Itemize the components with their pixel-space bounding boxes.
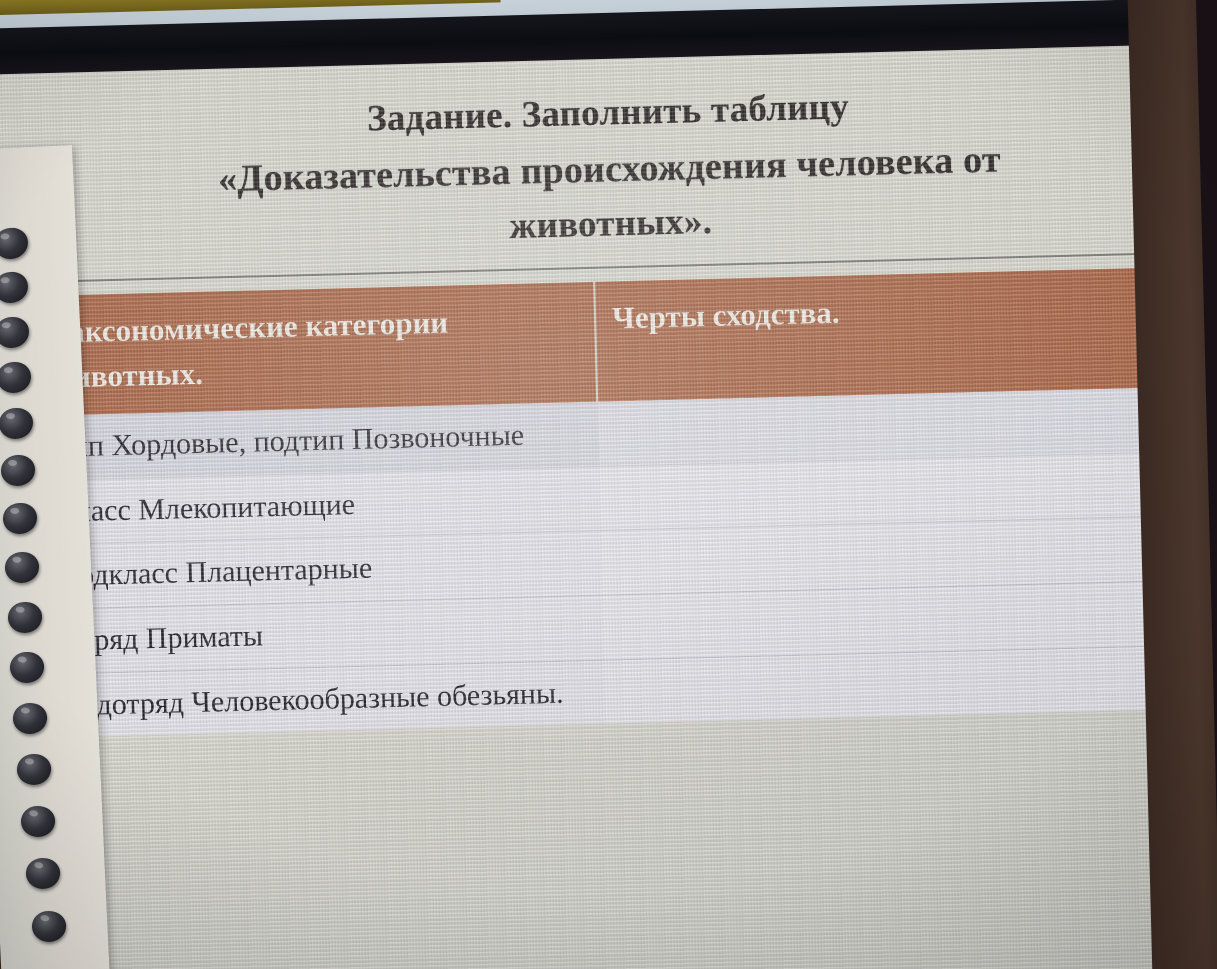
photo-of-projected-slide: Задание. Заполнить таблицу «Доказательст… [0, 0, 1217, 969]
evidence-table: Таксономические категории животных. Черт… [32, 266, 1203, 738]
column-header-taxonomic-categories: Таксономические категории животных. [32, 282, 597, 417]
cell-category: Подотряд Человекообразные обезьяны. [42, 660, 605, 738]
screen-surface: Задание. Заполнить таблицу «Доказательст… [0, 13, 1217, 969]
cell-similarity[interactable] [604, 645, 1203, 724]
column-header-similarity-features: Черты сходства. [594, 266, 1195, 402]
slide-content: Задание. Заполнить таблицу «Доказательст… [10, 23, 1217, 738]
